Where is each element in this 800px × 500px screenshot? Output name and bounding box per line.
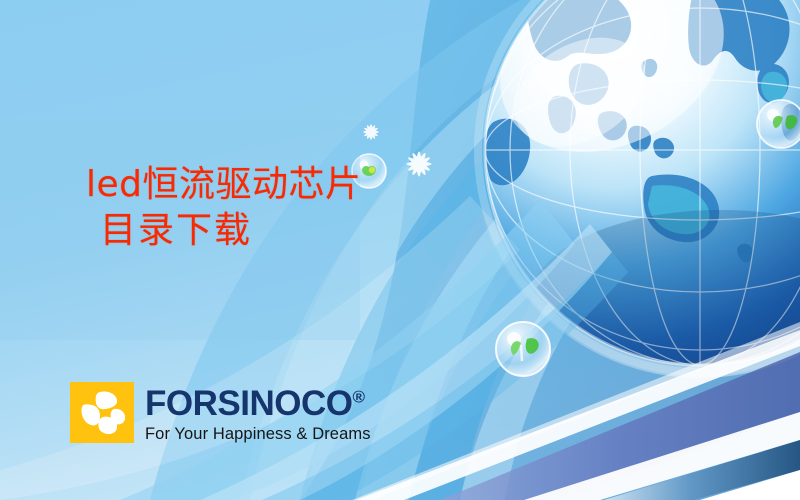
- headline-line-1: led恒流驱动芯片: [86, 162, 362, 208]
- logo-wordmark: FORSINOCO®: [145, 386, 371, 421]
- bubble-icon: [496, 322, 550, 376]
- logo-tagline: For Your Happiness & Dreams: [145, 426, 371, 443]
- page-title: led恒流驱动芯片 目录下载: [86, 162, 362, 254]
- logo-wordmark-text: FORSINOCO: [145, 384, 352, 423]
- four-petal-pinwheel-icon: [70, 382, 134, 443]
- brand-logo[interactable]: FORSINOCO® For Your Happiness & Dreams: [70, 382, 371, 443]
- headline-line-2: 目录下载: [100, 208, 362, 254]
- registered-trademark-icon: ®: [352, 387, 365, 406]
- logo-text-block: FORSINOCO® For Your Happiness & Dreams: [145, 382, 371, 443]
- bubble-icon: [757, 100, 800, 148]
- banner-canvas: led恒流驱动芯片 目录下载 FORSINOCO® For Your Happi…: [0, 0, 800, 500]
